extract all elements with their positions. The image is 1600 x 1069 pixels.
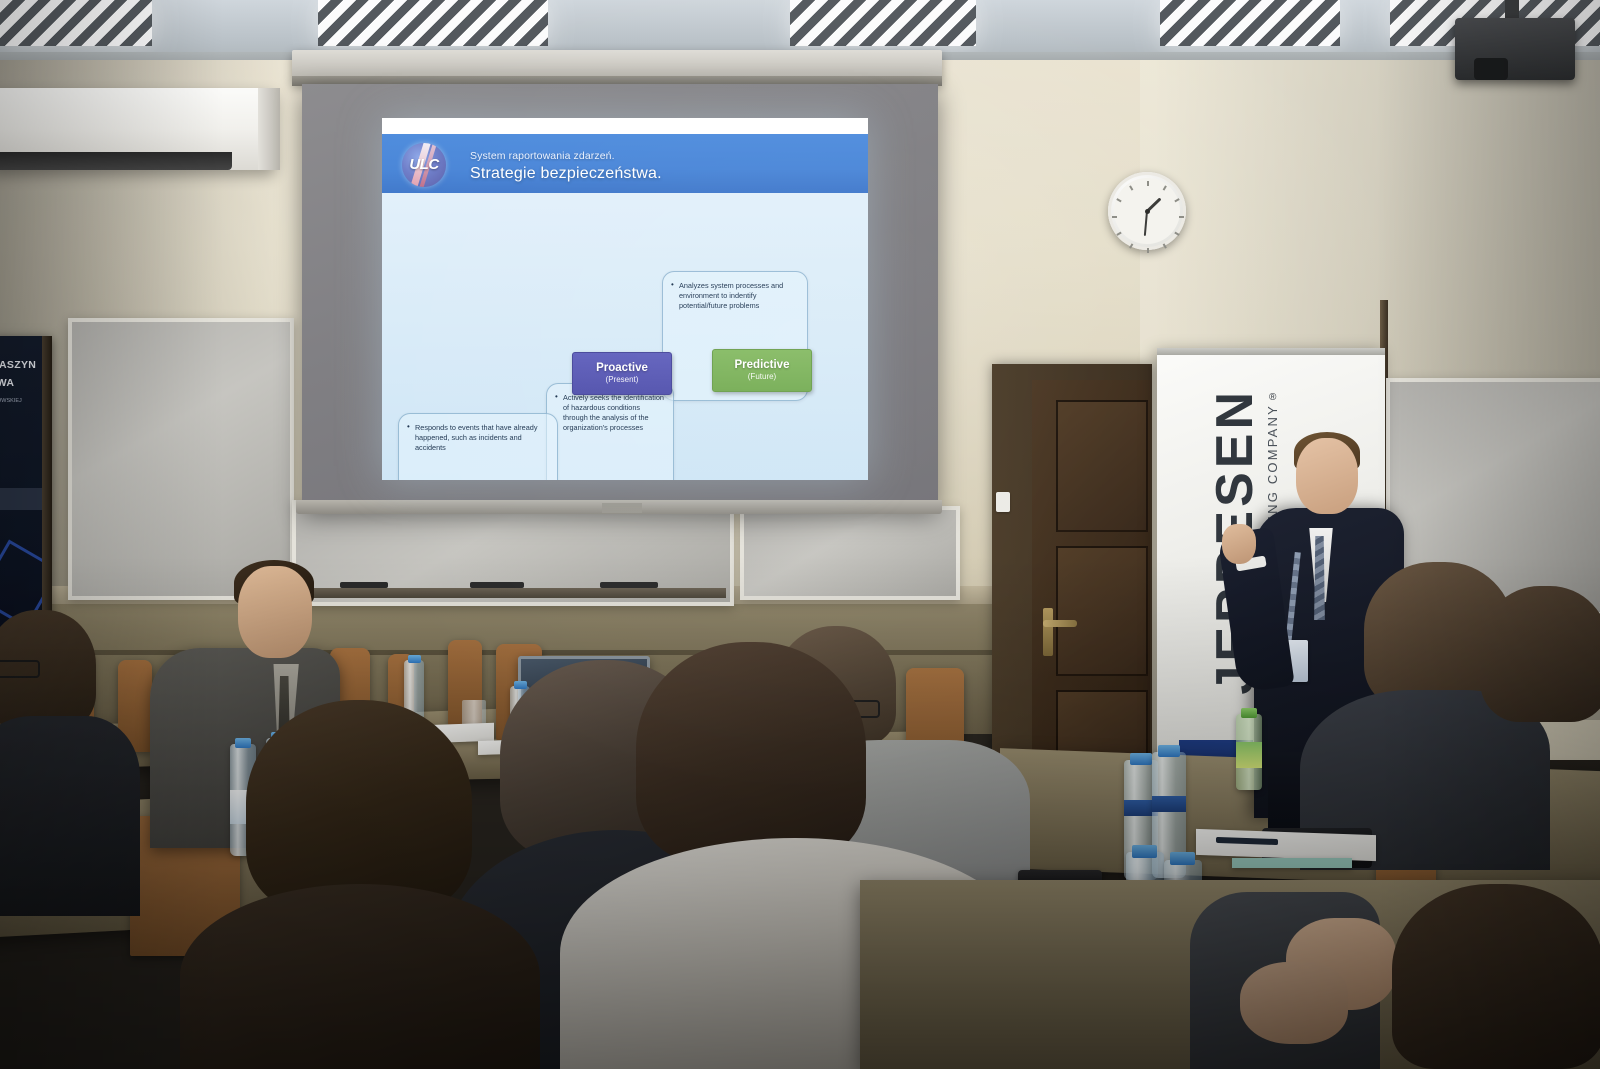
whiteboard-center-right: [740, 506, 960, 600]
ceiling-projector: [1455, 18, 1575, 80]
ceiling-light-panel: [790, 0, 976, 46]
door-lever[interactable]: [1043, 620, 1077, 627]
slide-body: Analyzes system processes and environmen…: [382, 193, 868, 480]
slide-subtitle: System raportowania zdarzeń.: [470, 150, 615, 162]
bottle-cap: [408, 655, 421, 663]
ulc-logo-icon: ULC: [402, 143, 446, 187]
whiteboard-left: [68, 318, 294, 600]
door-handle[interactable]: [1043, 608, 1053, 656]
door-panel: [1056, 400, 1148, 532]
audience-hand: [1240, 962, 1348, 1044]
presenter-hand: [1222, 524, 1256, 564]
projector-lens-icon: [1474, 58, 1508, 80]
proactive-description-bubble: Actively seeks the identification of haz…: [546, 383, 674, 480]
proactive-period: (Present): [573, 375, 671, 384]
bottle-cap: [1130, 753, 1152, 765]
slide-title: Strategie bezpieczeństwa.: [470, 165, 662, 183]
whiteboard-marker-tray: [292, 588, 726, 598]
bottle-cap: [514, 681, 527, 689]
ceiling-light-panel: [1160, 0, 1340, 46]
air-conditioner-vent: [0, 152, 232, 170]
audience-body: [180, 884, 540, 1069]
proactive-bullet: Actively seeks the identification of haz…: [563, 393, 664, 432]
marker-pen[interactable]: [600, 582, 658, 588]
projected-slide: ULC System raportowania zdarzeń. Strateg…: [382, 118, 868, 480]
banner-left-line3: AZOWSKIEJ: [0, 398, 22, 404]
clock-center-pin: [1145, 209, 1150, 214]
bottle-cap: [1241, 708, 1257, 718]
marker-pen[interactable]: [470, 582, 524, 588]
slide-top-strip: [382, 118, 868, 134]
audience-head: [1392, 884, 1600, 1069]
slide-header: ULC System raportowania zdarzeń. Strateg…: [382, 134, 868, 193]
bottle-cap: [1132, 845, 1157, 858]
reactive-bullet: Responds to events that have already hap…: [415, 423, 548, 453]
reactive-description-bubble: Responds to events that have already hap…: [398, 413, 558, 480]
clock-minute-hand: [1144, 211, 1148, 236]
audience-head: [636, 642, 866, 864]
audience-head: [1480, 586, 1600, 722]
audience-body: [0, 716, 140, 916]
ceiling-light-panel: [318, 0, 548, 46]
seated-man-head: [238, 566, 312, 658]
presenter-head: [1296, 438, 1358, 514]
ceiling-light-panel: [0, 0, 152, 46]
projection-screen-weight: [602, 503, 642, 513]
predictive-bullet: Analyzes system processes and environmen…: [679, 281, 798, 311]
ulc-logo-text: ULC: [402, 156, 446, 173]
predictive-period: (Future): [713, 372, 811, 381]
predictive-label: Predictive: [713, 359, 811, 371]
marker-pen[interactable]: [340, 582, 388, 588]
banner-left-line1: MASZYN: [0, 358, 36, 373]
bottle-cap: [1158, 745, 1180, 757]
rollup-top-bar: [1157, 348, 1385, 355]
bottle-label: [1236, 742, 1262, 768]
predictive-label-box: Predictive (Future): [712, 349, 812, 392]
proactive-label: Proactive: [573, 362, 671, 374]
lecture-room-photo: MASZYN TWA AZOWSKIEJ ULC System raportow…: [0, 0, 1600, 1069]
door-panel: [1056, 546, 1148, 676]
air-conditioner-side: [258, 88, 280, 170]
glasses-icon: [0, 660, 40, 678]
bottle-label: [1152, 796, 1186, 812]
audience-head: [246, 700, 472, 914]
banner-left-pole: [42, 336, 52, 636]
proactive-label-box: Proactive (Present): [572, 352, 672, 395]
banner-left-line2: TWA: [0, 376, 14, 391]
green-folder[interactable]: [1232, 858, 1352, 868]
registered-mark-icon: ®: [1269, 392, 1276, 403]
light-switch[interactable]: [996, 492, 1010, 512]
bottle-cap: [1170, 852, 1195, 865]
wall-clock: [1108, 172, 1186, 250]
clock-face: [1114, 178, 1180, 244]
bottle-cap: [235, 738, 251, 748]
